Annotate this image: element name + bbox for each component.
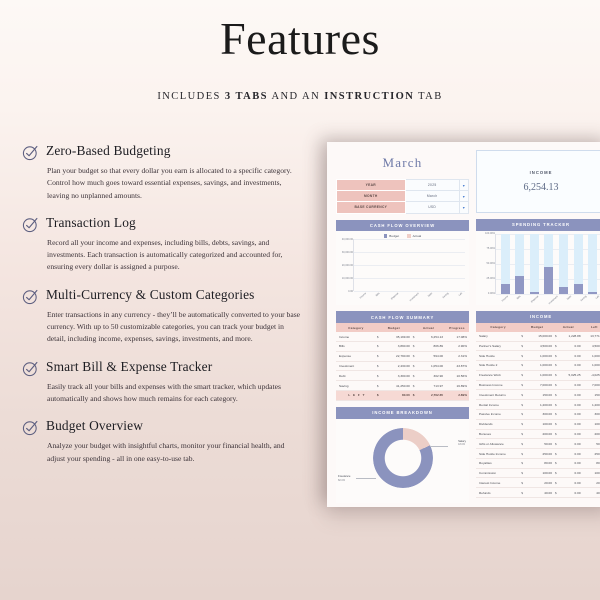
panel-header-spending-tracker: SPENDING TRACKER (476, 219, 600, 231)
chart-plot-area: 40,000.00 30,000.00 20,000.00 10,000.00 … (353, 239, 465, 291)
income-card-label: INCOME (530, 170, 553, 175)
table-header-row: Category Budget Actual Left (476, 323, 600, 332)
donut-label-salary: Salary 18.0% (458, 440, 466, 447)
feature-title: Zero-Based Budgeting (46, 143, 171, 159)
bar-stack (515, 234, 524, 294)
control-label: MONTH (337, 191, 406, 202)
column-header: Progress (445, 323, 469, 332)
x-tick: Saving (580, 295, 587, 302)
bar-stack (544, 234, 553, 294)
bar-stack (530, 234, 539, 294)
control-panel[interactable]: YEAR 2025 ▾ MONTH March ▾ BASE CURRENCY … (336, 179, 469, 214)
y-tick: 100.00% (481, 232, 495, 235)
y-tick: 75.00% (481, 247, 495, 250)
income-breakdown-chart: Salary 18.0% Freelance 82.0% (336, 419, 469, 503)
x-tick: Left (595, 295, 600, 300)
chart-x-labels: Income Bills Expense Investment Debt Sav… (353, 292, 465, 295)
table-row[interactable]: Side Hustle 2$1,000.00$0.001,000.00 (476, 361, 600, 371)
y-tick: 20,000.00 (339, 264, 353, 267)
table-row[interactable]: Side Hustle Income$250.00$0.00250.00 (476, 449, 600, 459)
table-row[interactable]: Income $ 35,199.00 $ 6,254.13 17.08% (336, 332, 469, 341)
chart-plot-area: 100.00% 75.00% 50.00% 25.00% 0.00% (495, 234, 600, 294)
table-row[interactable]: Refunds$40.00$0.0040.00 (476, 488, 600, 498)
x-tick: Expense (390, 292, 399, 300)
subtitle-part-3: AND AN (268, 91, 324, 102)
x-tick: Left (458, 292, 463, 297)
column-header: Left (583, 323, 600, 332)
chevron-down-icon[interactable]: ▾ (459, 180, 468, 191)
table-row[interactable]: Gifts or Allowance$50.00$0.0050.00 (476, 439, 600, 449)
page-subtitle: INCLUDES 3 TABS AND AN INSTRUCTION TAB (0, 91, 600, 102)
feature-item-smart-bill-tracker: Smart Bill & Expense Tracker Easily trac… (22, 359, 302, 406)
subtitle-highlight-tabs: 3 TABS (225, 91, 268, 102)
column-header: Actual (412, 323, 445, 332)
table-row[interactable]: Business Income$7,000.00$0.007,000.00 (476, 380, 600, 390)
leader-line (356, 478, 376, 479)
check-circle-icon (22, 288, 39, 305)
control-value[interactable]: USD (405, 202, 459, 213)
chart-bars (498, 234, 600, 294)
table-row[interactable]: Commission$100.00$0.00100.00 (476, 468, 600, 478)
chevron-down-icon[interactable]: ▾ (459, 191, 468, 202)
feature-item-transaction-log: Transaction Log Record all your income a… (22, 215, 302, 274)
legend-item-actual: Actual (407, 234, 421, 238)
table-row[interactable]: Bonuses$200.00$0.00200.00 (476, 429, 600, 439)
x-tick: Bills (516, 295, 521, 300)
panel-header-income: INCOME (476, 311, 600, 323)
y-tick: 0.00 (339, 290, 353, 293)
feature-list: Zero-Based Budgeting Plan your budget so… (22, 143, 302, 478)
feature-description: Enter transactions in any currency - the… (47, 309, 302, 346)
control-row-year[interactable]: YEAR 2025 ▾ (337, 180, 469, 191)
legend-item-budget: Budget (384, 234, 399, 238)
feature-item-budget-overview: Budget Overview Analyze your budget with… (22, 418, 302, 465)
month-title: March (336, 150, 469, 179)
y-tick: 40,000.00 (339, 238, 353, 241)
panel-header-cash-flow-overview: CASH FLOW OVERVIEW (336, 220, 469, 232)
chart-legend: Budget Actual (338, 234, 467, 238)
sheet-right-column: INCOME 6,254.13 SPENDING TRACKER 100.00%… (476, 150, 600, 503)
feature-description: Plan your budget so that every dollar yo… (47, 165, 302, 202)
panel-header-income-breakdown: INCOME BREAKDOWN (336, 407, 469, 419)
spending-tracker-chart: 100.00% 75.00% 50.00% 25.00% 0.00% (476, 231, 600, 305)
page-title: Features (0, 12, 600, 65)
bar-stack (559, 234, 568, 294)
table-total-row: L E F T $ 80.00 $ 2,762.65 2.89% (336, 391, 469, 401)
table-row[interactable]: Expense $ 22,790.00 $ 594.00 2.31% (336, 351, 469, 361)
table-row[interactable]: Partner's Salary$4,500.00$0.004,500.00 (476, 341, 600, 351)
donut-label-freelance: Freelance 82.0% (338, 475, 350, 482)
table-row[interactable]: Passive Income$300.00$0.00300.00 (476, 410, 600, 420)
table-row[interactable]: Interest Income$20.00$0.0020.00 (476, 478, 600, 488)
bar-stack (574, 234, 583, 294)
table-row[interactable]: Bills $ 3,890.00 $ 806.89 2.90% (336, 342, 469, 352)
control-row-base-currency[interactable]: BASE CURRENCY USD ▾ (337, 202, 469, 213)
y-tick: 50.00% (481, 262, 495, 265)
table-row[interactable]: Saving $ 41,250.00 $ 713.97 16.89% (336, 381, 469, 391)
x-tick: Income (501, 295, 509, 302)
control-label: YEAR (337, 180, 406, 191)
subtitle-part-1: INCLUDES (157, 91, 225, 102)
feature-title: Budget Overview (46, 418, 143, 434)
table-row[interactable]: Royalties$80.00$0.0080.00 (476, 458, 600, 468)
donut-ring (373, 428, 433, 488)
table-row[interactable]: Salary$15,000.00$1,228.8813,771.12 (476, 332, 600, 341)
column-header: Actual (554, 323, 583, 332)
x-tick: Investment (548, 295, 559, 305)
feature-description: Analyze your budget with insightful char… (47, 440, 302, 465)
control-row-month[interactable]: MONTH March ▾ (337, 191, 469, 202)
bar-stack (501, 234, 510, 294)
table-row[interactable]: Side Hustle$1,000.00$0.001,000.00 (476, 351, 600, 361)
x-tick: Saving (442, 292, 449, 299)
control-value[interactable]: 2025 (405, 180, 459, 191)
feature-description: Easily track all your bills and expenses… (47, 381, 302, 406)
spreadsheet-preview[interactable]: March YEAR 2025 ▾ MONTH March ▾ BASE CUR… (327, 142, 600, 507)
table-row[interactable]: Investment $ 2,430.00 $ 1,054.00 43.87% (336, 361, 469, 371)
features-page: Features INCLUDES 3 TABS AND AN INSTRUCT… (0, 0, 600, 600)
table-row[interactable]: Debt $ 3,300.00 $ 302.90 10.56% (336, 371, 469, 381)
x-tick: Investment (409, 292, 420, 302)
x-tick: Bills (375, 292, 380, 297)
table-row[interactable]: Freelance Work$1,000.00$5,025.25-4,025.2… (476, 370, 600, 380)
cash-flow-overview-chart: Budget Actual 40,000.00 30,000.00 20,000… (336, 231, 469, 305)
y-tick: 10,000.00 (339, 277, 353, 280)
y-tick: 30,000.00 (339, 251, 353, 254)
check-circle-icon (22, 360, 39, 377)
x-tick: Debt (566, 295, 572, 301)
column-header: Budget (520, 323, 554, 332)
y-tick: 0.00% (481, 292, 495, 295)
panel-header-cash-flow-summary: CASH FLOW SUMMARY (336, 311, 469, 323)
control-value[interactable]: March (405, 191, 459, 202)
subtitle-highlight-instruction: INSTRUCTION (324, 91, 414, 102)
income-table[interactable]: Category Budget Actual Left Salary$15,00… (476, 323, 600, 498)
chart-bars (356, 239, 463, 291)
column-header: Budget (376, 323, 412, 332)
leader-line (430, 446, 448, 447)
income-card-value: 6,254.13 (524, 182, 559, 193)
column-header: Category (476, 323, 520, 332)
table-row[interactable]: Rental Income$1,200.00$0.001,200.00 (476, 400, 600, 410)
check-circle-icon (22, 144, 39, 161)
feature-title: Multi-Currency & Custom Categories (46, 287, 255, 303)
x-tick: Debt (428, 292, 434, 298)
check-circle-icon (22, 419, 39, 436)
feature-title: Transaction Log (46, 215, 136, 231)
chart-x-labels: Income Bills Expense Investment Debt Sav… (495, 295, 600, 298)
table-row[interactable]: Dividends$100.00$0.00100.00 (476, 419, 600, 429)
chevron-down-icon[interactable]: ▾ (459, 202, 468, 213)
table-header-row: Category Budget Actual Progress (336, 323, 469, 332)
x-tick: Income (359, 292, 367, 299)
income-summary-card: INCOME 6,254.13 (476, 150, 600, 213)
table-row[interactable]: Investment Returns$150.00$0.00150.00 (476, 390, 600, 400)
feature-item-zero-based-budgeting: Zero-Based Budgeting Plan your budget so… (22, 143, 302, 202)
feature-title: Smart Bill & Expense Tracker (46, 359, 212, 375)
bar-stack (588, 234, 597, 294)
cash-flow-summary-table[interactable]: Category Budget Actual Progress Income $… (336, 323, 469, 401)
control-label: BASE CURRENCY (337, 202, 406, 213)
x-tick: Expense (530, 295, 539, 303)
check-circle-icon (22, 216, 39, 233)
feature-item-multi-currency: Multi-Currency & Custom Categories Enter… (22, 287, 302, 346)
feature-description: Record all your income and expenses, inc… (47, 237, 302, 274)
sheet-left-column: March YEAR 2025 ▾ MONTH March ▾ BASE CUR… (336, 150, 469, 503)
y-tick: 25.00% (481, 277, 495, 280)
subtitle-part-5: TAB (414, 91, 442, 102)
column-header: Category (336, 323, 376, 332)
